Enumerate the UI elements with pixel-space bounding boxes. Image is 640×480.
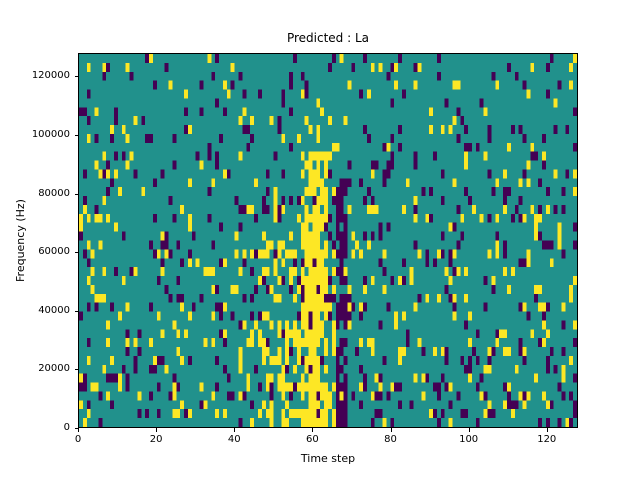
x-tick-mark (391, 428, 392, 432)
y-tick-mark (75, 369, 79, 370)
x-tick-mark (547, 428, 548, 432)
x-tick-mark (156, 428, 157, 432)
x-tick-label: 100 (439, 434, 499, 446)
y-tick-label: 80000 (0, 188, 70, 200)
matplotlib-figure: Predicted : La 0200004000060000800001000… (0, 0, 640, 480)
y-tick-mark (75, 252, 79, 253)
y-tick-label: 40000 (0, 305, 70, 317)
y-tick-label: 0 (0, 422, 70, 434)
y-axis-label: Frequency (Hz) (14, 53, 28, 428)
y-tick-label: 120000 (0, 70, 70, 82)
y-tick-label: 100000 (0, 129, 70, 141)
y-tick-mark (75, 311, 79, 312)
x-tick-mark (78, 428, 79, 432)
x-tick-mark (469, 428, 470, 432)
y-tick-label: 60000 (0, 246, 70, 258)
x-tick-label: 0 (48, 434, 108, 446)
x-tick-label: 80 (361, 434, 421, 446)
x-tick-label: 120 (517, 434, 577, 446)
heatmap-plot-area (78, 53, 578, 428)
y-tick-label: 20000 (0, 363, 70, 375)
x-tick-label: 40 (204, 434, 264, 446)
x-tick-label: 20 (126, 434, 186, 446)
page-title: Predicted : La (78, 28, 578, 48)
y-tick-mark (75, 76, 79, 77)
y-tick-mark (75, 194, 79, 195)
y-tick-mark (75, 135, 79, 136)
heatmap-image (79, 54, 577, 427)
x-axis-label: Time step (78, 452, 578, 466)
x-tick-label: 60 (282, 434, 342, 446)
x-tick-mark (312, 428, 313, 432)
x-tick-mark (234, 428, 235, 432)
